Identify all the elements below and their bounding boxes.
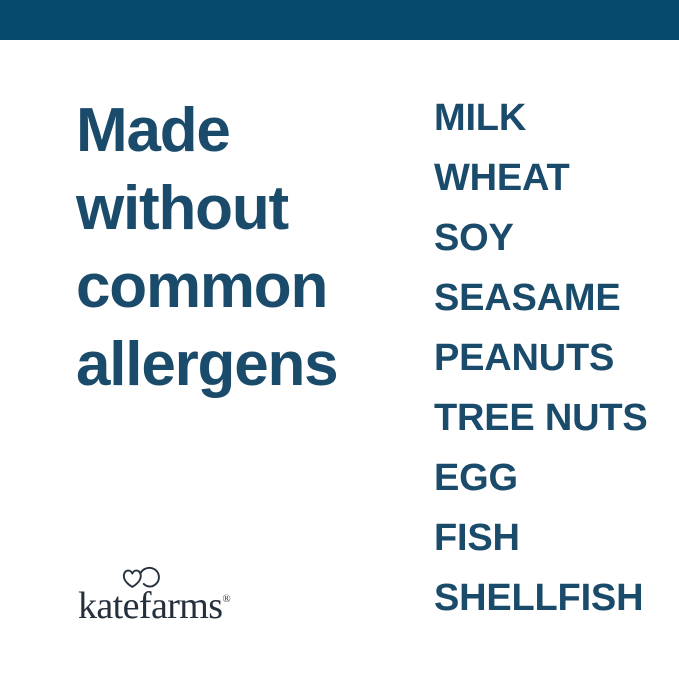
registered-trademark-icon: ®	[222, 593, 230, 605]
list-item: EGG	[434, 456, 664, 516]
list-item: FISH	[434, 516, 664, 576]
top-accent-bar	[0, 0, 679, 40]
logo-wordmark-text: katefarms	[78, 585, 222, 627]
list-item: SHELLFISH	[434, 576, 664, 636]
promo-graphic: Made without common allergens MILK WHEAT…	[0, 0, 679, 679]
list-item: WHEAT	[434, 156, 664, 216]
list-item: MILK	[434, 96, 664, 156]
list-item: PEANUTS	[434, 336, 664, 396]
brand-logo: katefarms®	[78, 566, 248, 616]
list-item: TREE NUTS	[434, 396, 664, 456]
list-item: SEASAME	[434, 276, 664, 336]
page-title: Made without common allergens	[76, 92, 406, 404]
logo-wordmark: katefarms®	[78, 580, 231, 625]
allergen-list: MILK WHEAT SOY SEASAME PEANUTS TREE NUTS…	[434, 96, 664, 636]
list-item: SOY	[434, 216, 664, 276]
